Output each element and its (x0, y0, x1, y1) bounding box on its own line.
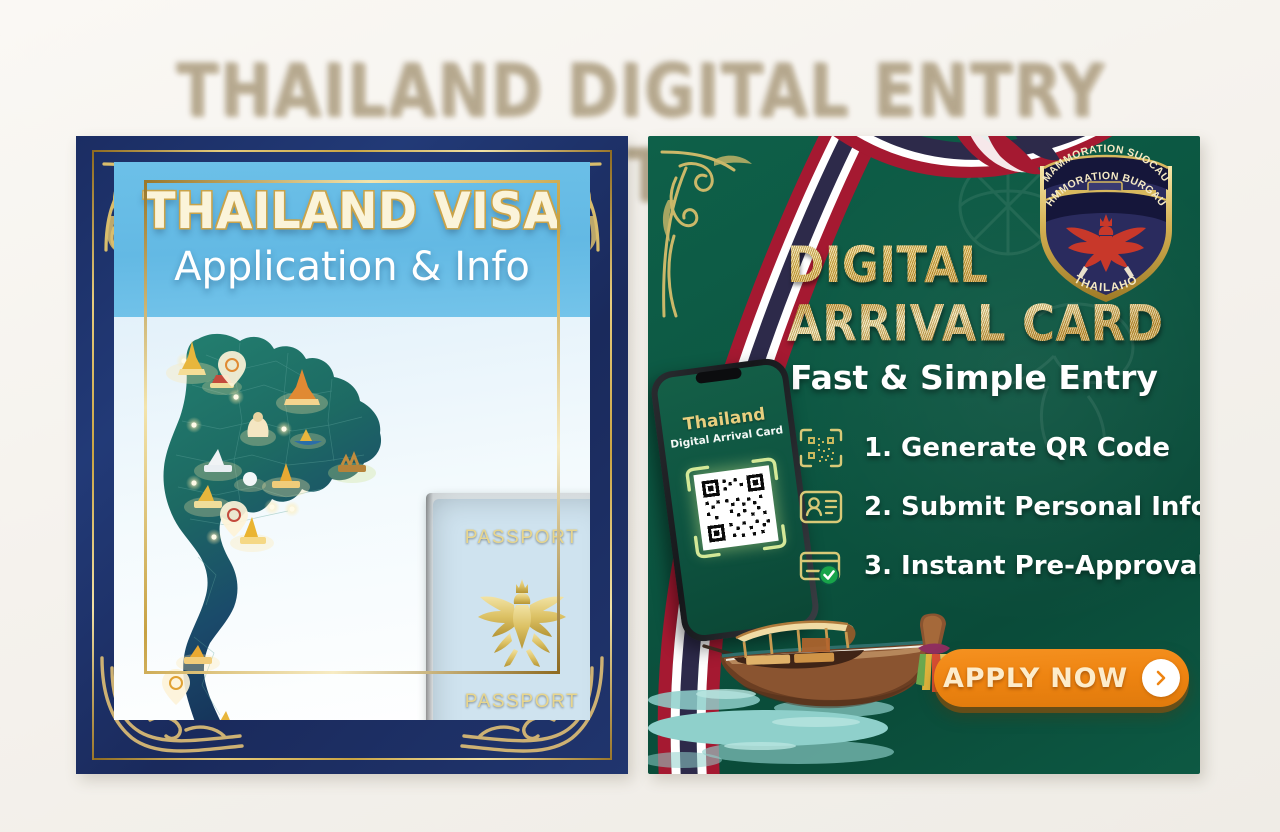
step-row: 3. Instant Pre-Approval (798, 536, 1198, 595)
qr-code-icon (693, 465, 778, 550)
apply-now-button-arrival[interactable]: APPLY NOW (934, 649, 1189, 707)
chevron-right-icon (1142, 659, 1180, 697)
thailand-visa-card[interactable]: THAILAND VISA Application & Info (76, 136, 628, 774)
frame-gold-line-left (92, 150, 94, 760)
phone-qr-scan-frame (684, 456, 787, 559)
arrival-subheading: Fast & Simple Entry (790, 358, 1200, 397)
frame-gold-line-right (610, 150, 612, 760)
passport-label-bottom: PASSPORT (426, 691, 590, 713)
step-row: 2. Submit Personal Info (798, 477, 1198, 536)
apply-now-label: APPLY NOW (943, 663, 1128, 694)
visa-body: PASSPORT (114, 317, 590, 720)
arrival-heading-line1: DIGITAL (787, 236, 1187, 294)
frame-gold-line-top (92, 150, 612, 152)
card-approved-icon (798, 546, 844, 586)
visa-header-band: THAILAND VISA Application & Info (114, 162, 590, 317)
thailand-map (136, 325, 396, 720)
frame-gold-line-bottom (92, 758, 612, 760)
thai-passport: PASSPORT (426, 493, 590, 720)
arrival-heading-line2: ARRIVAL CARD (787, 294, 1187, 352)
visa-subheading: Application & Info (114, 244, 590, 290)
passport-label-top: PASSPORT (426, 527, 590, 549)
passport-cover: PASSPORT (426, 493, 590, 720)
step-label: 2. Submit Personal Info (864, 492, 1200, 522)
visa-inner-content: THAILAND VISA Application & Info (114, 162, 590, 720)
phone-screen: Thailand Digital Arrival Card (656, 363, 815, 637)
qr-scan-icon (798, 428, 844, 468)
step-row: 1. Generate QR Code (798, 418, 1198, 477)
visa-heading: THAILAND VISA (114, 182, 590, 240)
arrival-heading: DIGITAL ARRIVAL CARD (787, 236, 1187, 353)
steps-list: 1. Generate QR Code 2. Submit Personal I… (798, 418, 1198, 595)
step-label: 1. Generate QR Code (864, 433, 1170, 463)
thai-longtail-boat (698, 598, 960, 728)
id-card-icon (798, 487, 844, 527)
digital-arrival-card[interactable]: MAMMORATION SUOCAU HMMORATION BURGAU THA… (648, 136, 1200, 774)
step-label: 3. Instant Pre-Approval (864, 551, 1200, 581)
kanok-ornament-arrival-top-left (656, 144, 776, 324)
garuda-emblem (470, 571, 574, 675)
